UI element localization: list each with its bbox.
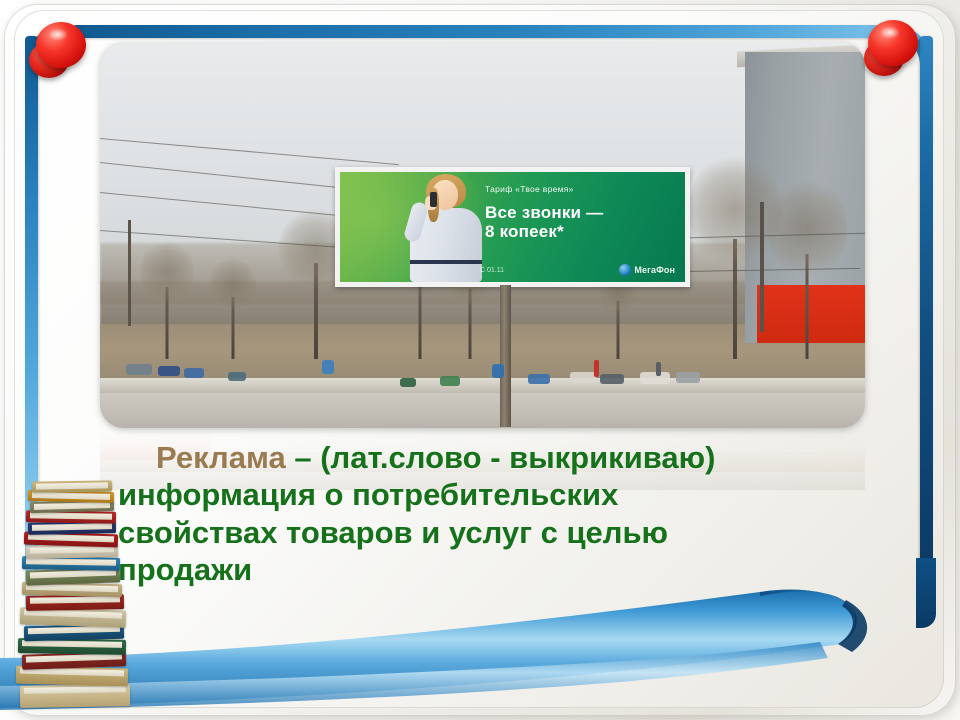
caption-etymology: (лат.слово - выкрикиваю) [320,440,715,475]
photo-utility-pole [760,202,764,332]
caption-dash: – [286,440,320,475]
photo-parked-car [528,374,550,384]
photo-tree [772,184,842,359]
photo-parked-car [184,368,204,378]
photo-tree [210,255,256,359]
billboard-headline-line2: 8 копеек* [485,222,675,241]
billboard-headline-line1: Все звонки — [485,203,675,222]
megafon-logo-text: МегаФон [634,265,675,275]
photo-tree [140,239,194,359]
caption-line-1: Реклама – (лат.слово - выкрикиваю) [118,440,908,475]
mobile-phone-icon [430,192,437,207]
ribbon-right-tail [916,558,936,628]
billboard-artwork: Тариф «Твое время» Все звонки — 8 копеек… [340,172,685,282]
billboard-headline: Все звонки — 8 копеек* [485,203,675,241]
photo-parked-car [600,374,624,384]
billboard-support-pole [500,285,511,427]
billboard-footer: C 01.11 МегаФон [480,264,675,276]
frame-right-bar [920,36,933,600]
caption-line-3: свойствах товаров и услуг с целью [118,515,908,550]
photo-road [100,393,865,428]
billboard-panel: Тариф «Твое время» Все звонки — 8 копеек… [335,167,690,287]
stack-of-books [4,495,154,710]
caption-block: Реклама – (лат.слово - выкрикиваю) инфор… [118,440,908,587]
caption-line-4: продажи [118,552,908,587]
photo-utility-pole [128,220,131,326]
pin-head [36,22,86,68]
photo-parked-car [126,364,152,375]
photo-pedestrian [594,360,599,377]
billboard-photo: Тариф «Твое время» Все звонки — 8 копеек… [100,42,865,428]
photo-canvas: Тариф «Твое время» Все звонки — 8 копеек… [100,42,865,428]
billboard-date-mark: C 01.11 [480,267,504,274]
photo-parked-car [158,366,180,376]
slide-root: Тариф «Твое время» Все звонки — 8 копеек… [0,0,960,720]
caption-line-2: информация о потребительских [118,477,908,512]
pin-head [868,20,918,66]
book [32,480,112,492]
megafon-logo: МегаФон [619,264,675,276]
woman-belt [410,260,482,264]
billboard-text-block: Тариф «Твое время» Все звонки — 8 копеек… [485,184,675,241]
push-pin-right-icon [864,16,930,82]
push-pin-left-icon [28,18,94,84]
photo-parked-car [400,378,416,387]
book [20,684,130,708]
photo-roadside-bin [492,364,504,378]
caption-term: Реклама [156,440,286,475]
photo-parked-car [640,372,670,384]
photo-parked-car [676,372,700,383]
frame-top-bar [72,25,890,38]
photo-pedestrian [656,362,661,376]
photo-parked-car [570,372,596,383]
photo-parked-car [440,376,460,386]
photo-roadside-bin [322,360,334,374]
billboard-tariff-line: Тариф «Твое время» [485,184,675,194]
megafon-logo-icon [619,264,631,276]
photo-parked-car [228,372,246,381]
